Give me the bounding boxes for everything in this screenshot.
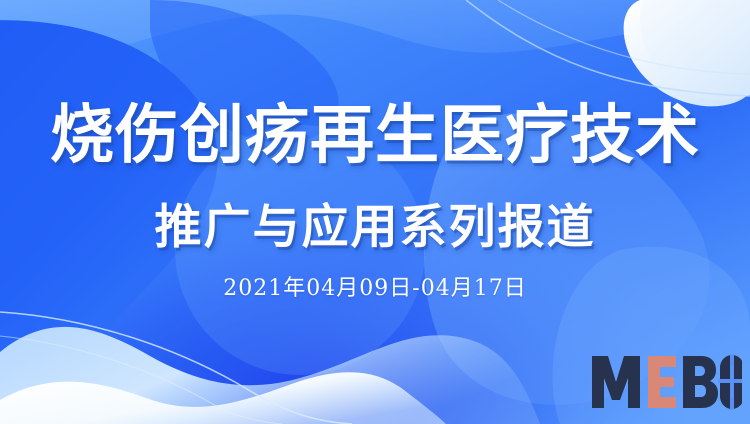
- logo-letter-m: [592, 356, 640, 408]
- logo-letter-o: [718, 354, 742, 410]
- logo-letter-b: [683, 356, 718, 408]
- center-soft-circle: [175, 125, 425, 375]
- promo-banner: 烧伤创疡再生医疗技术 推广与应用系列报道 2021年04月09日-04月17日: [0, 0, 750, 424]
- logo-letter-e: [648, 356, 676, 408]
- mebo-logo: [590, 352, 742, 412]
